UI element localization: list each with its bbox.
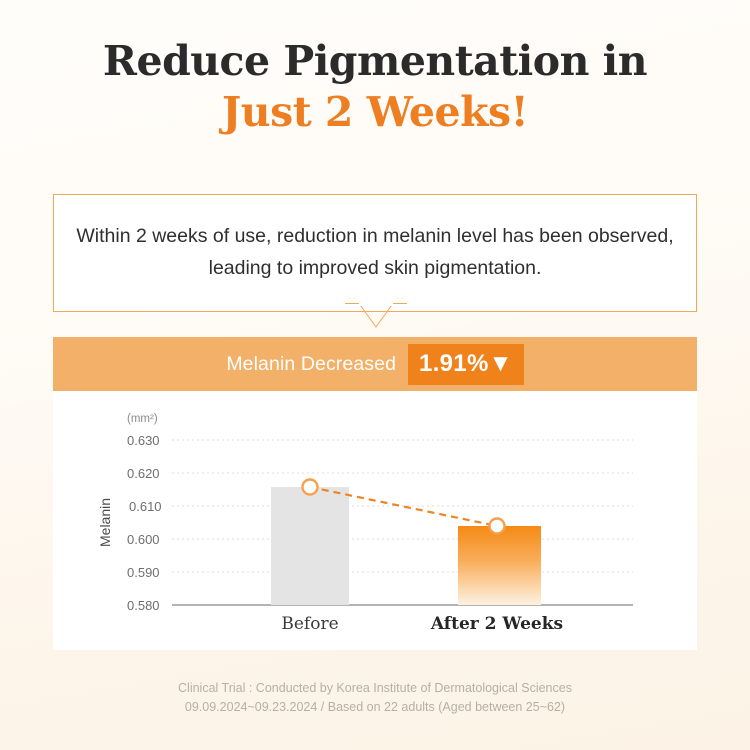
- callout-text: Within 2 weeks of use, reduction in mela…: [54, 221, 696, 284]
- banner-label: Melanin Decreased: [226, 353, 396, 376]
- callout-box: Within 2 weeks of use, reduction in mela…: [53, 194, 697, 312]
- headline-line-1: Reduce Pigmentation in: [0, 38, 750, 85]
- y-tick-label: 0.620: [127, 466, 160, 481]
- bar-before: [271, 487, 349, 605]
- footnote-line-1: Clinical Trial : Conducted by Korea Inst…: [0, 679, 750, 698]
- chart-panel: (mm²) 0.630 0.620 0.610 0.600 0.590 0.58…: [53, 391, 697, 650]
- footnote-line-2: 09.09.2024~09.23.2024 / Based on 22 adul…: [0, 698, 750, 717]
- y-tick-label: 0.590: [127, 565, 160, 580]
- melanin-bar-chart: (mm²) 0.630 0.620 0.610 0.600 0.590 0.58…: [53, 391, 697, 650]
- bar-after-2-weeks: [458, 526, 541, 605]
- y-tick-label: 0.600: [127, 532, 160, 547]
- y-axis-unit: (mm²): [127, 413, 158, 425]
- footnote: Clinical Trial : Conducted by Korea Inst…: [0, 679, 750, 718]
- status-badge: 1.91%▼: [408, 344, 524, 385]
- y-tick-label: 0.610: [129, 499, 162, 514]
- y-tick-label: 0.580: [127, 598, 160, 613]
- y-axis-title: Melanin: [97, 498, 113, 547]
- notch-icon: [345, 303, 407, 331]
- result-banner: Melanin Decreased 1.91%▼: [53, 337, 697, 391]
- x-label-before: Before: [281, 614, 338, 634]
- x-label-after: After 2 Weeks: [430, 614, 563, 634]
- page-title: Reduce Pigmentation in Just 2 Weeks!: [0, 38, 750, 140]
- data-point-before: [303, 480, 318, 495]
- headline-line-2: Just 2 Weeks!: [0, 85, 750, 140]
- y-tick-label: 0.630: [127, 433, 160, 448]
- chart-gridlines: [172, 440, 633, 572]
- infographic-page: Reduce Pigmentation in Just 2 Weeks! Wit…: [0, 0, 750, 750]
- data-point-after: [490, 519, 505, 534]
- callout-notch: [345, 303, 407, 331]
